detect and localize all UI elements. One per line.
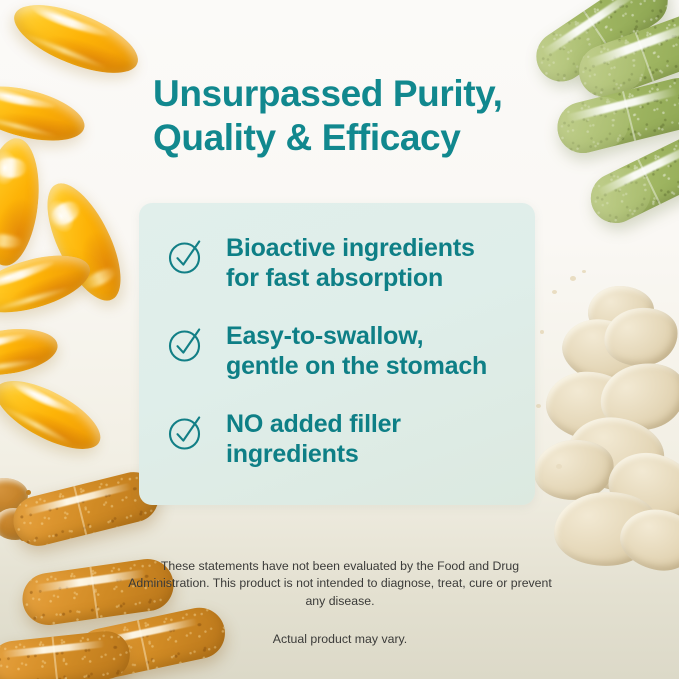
product-variation-note: Actual product may vary. bbox=[120, 631, 560, 648]
product-infographic: Unsurpassed Purity, Quality & Efficacy B… bbox=[0, 0, 679, 679]
features-card: Bioactive ingredients for fast absorptio… bbox=[139, 203, 535, 505]
powder-pile-right bbox=[534, 268, 679, 568]
feature-label: NO added filler ingredients bbox=[226, 410, 401, 469]
spilled-turmeric-powder bbox=[0, 474, 72, 564]
feature-item-no-fillers: NO added filler ingredients bbox=[166, 410, 401, 469]
page-title: Unsurpassed Purity, Quality & Efficacy bbox=[153, 72, 573, 159]
fda-disclaimer-text: These statements have not been evaluated… bbox=[128, 559, 552, 608]
feature-item-easy-to-swallow: Easy-to-swallow, gentle on the stomach bbox=[166, 322, 487, 381]
feature-label: Bioactive ingredients for fast absorptio… bbox=[226, 234, 475, 293]
check-circle-icon bbox=[166, 324, 206, 364]
check-circle-icon bbox=[166, 236, 206, 276]
feature-item-bioactive: Bioactive ingredients for fast absorptio… bbox=[166, 234, 475, 293]
feature-label: Easy-to-swallow, gentle on the stomach bbox=[226, 322, 487, 381]
headline-line-1: Unsurpassed Purity, bbox=[153, 73, 502, 114]
headline-line-2: Quality & Efficacy bbox=[153, 116, 573, 160]
check-circle-icon bbox=[166, 412, 206, 452]
disclaimer: These statements have not been evaluated… bbox=[120, 558, 560, 649]
